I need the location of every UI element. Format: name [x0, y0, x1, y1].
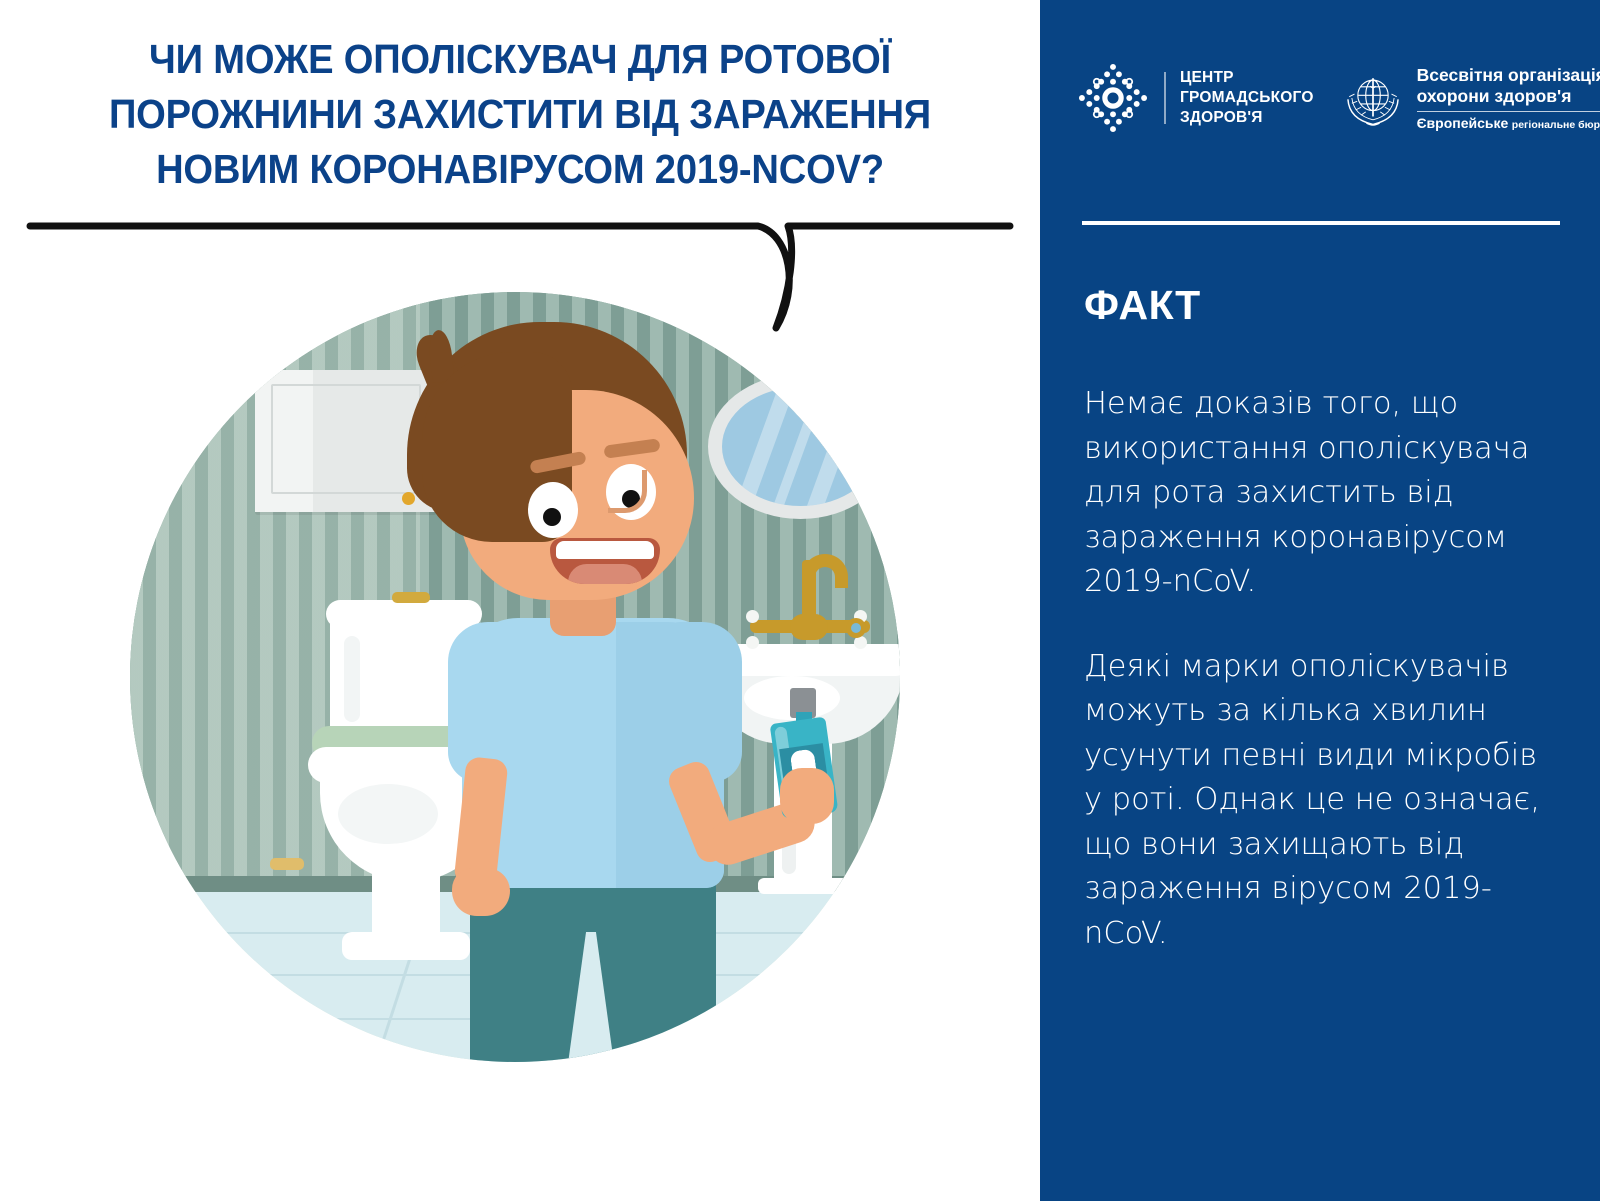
- who-region-rest: регіональне бюро: [1512, 119, 1600, 131]
- logo-divider: [1164, 72, 1166, 124]
- panel-divider: [1082, 221, 1560, 225]
- fact-paragraph-2: Деякі марки ополіскувачів можуть за кіль…: [1084, 645, 1562, 957]
- page-title-line-3: НОВИМ КОРОНАВІРУСОМ 2019-NCOV?: [74, 142, 967, 197]
- boy-teeth: [556, 541, 654, 559]
- infographic-page: ЧИ МОЖЕ ОПОЛІСКУВАЧ ДЛЯ РОТОВОЇ ПОРОЖНИН…: [0, 0, 1600, 1201]
- fact-body: Немає доказів того, що використання опол…: [1084, 382, 1562, 956]
- who-region-bold: Європейське: [1417, 115, 1509, 131]
- boy-tongue: [568, 564, 642, 584]
- cph-dot-diamond-icon: [1076, 61, 1150, 135]
- left-content-area: ЧИ МОЖЕ ОПОЛІСКУВАЧ ДЛЯ РОТОВОЇ ПОРОЖНИН…: [0, 0, 1040, 1201]
- boy-sleeve-right: [664, 622, 742, 782]
- boy-character: [130, 292, 900, 1062]
- who-text-line-1: Всесвітня організація: [1417, 65, 1600, 86]
- who-region-text: Європейське регіональне бюро: [1417, 115, 1600, 131]
- who-logo-rule: [1417, 111, 1600, 113]
- fact-panel: ЦЕНТР ГРОМАДСЬКОГО ЗДОРОВ'Я: [1040, 0, 1600, 1201]
- page-title-line-1: ЧИ МОЖЕ ОПОЛІСКУВАЧ ДЛЯ РОТОВОЇ: [74, 32, 967, 87]
- page-title: ЧИ МОЖЕ ОПОЛІСКУВАЧ ДЛЯ РОТОВОЇ ПОРОЖНИН…: [74, 32, 967, 197]
- who-logo-text: Всесвітня організація охорони здоров'я Є…: [1417, 65, 1600, 132]
- boy-hand-left: [452, 868, 510, 916]
- boy-pupil-left: [543, 508, 561, 526]
- cph-text-line-3: ЗДОРОВ'Я: [1180, 108, 1314, 128]
- cph-logo-text: ЦЕНТР ГРОМАДСЬКОГО ЗДОРОВ'Я: [1180, 68, 1314, 127]
- who-logo: Всесвітня організація охорони здоров'я Є…: [1340, 65, 1600, 132]
- cph-logo: ЦЕНТР ГРОМАДСЬКОГО ЗДОРОВ'Я: [1076, 61, 1314, 135]
- illustration-circle: [130, 292, 900, 1062]
- fact-heading: ФАКТ: [1084, 282, 1201, 329]
- fact-paragraph-1: Немає доказів того, що використання опол…: [1084, 382, 1562, 605]
- page-title-line-2: ПОРОЖНИНИ ЗАХИСТИТИ ВІД ЗАРАЖЕННЯ: [74, 87, 967, 142]
- cph-text-line-2: ГРОМАДСЬКОГО: [1180, 88, 1314, 108]
- who-emblem-icon: [1340, 65, 1406, 131]
- boy-mouth: [550, 538, 660, 584]
- bathroom-illustration: [130, 292, 940, 1152]
- logo-row: ЦЕНТР ГРОМАДСЬКОГО ЗДОРОВ'Я: [1076, 50, 1576, 146]
- cph-text-line-1: ЦЕНТР: [1180, 68, 1314, 88]
- who-text-line-2: охорони здоров'я: [1417, 86, 1600, 107]
- boy-hand-right: [780, 768, 834, 824]
